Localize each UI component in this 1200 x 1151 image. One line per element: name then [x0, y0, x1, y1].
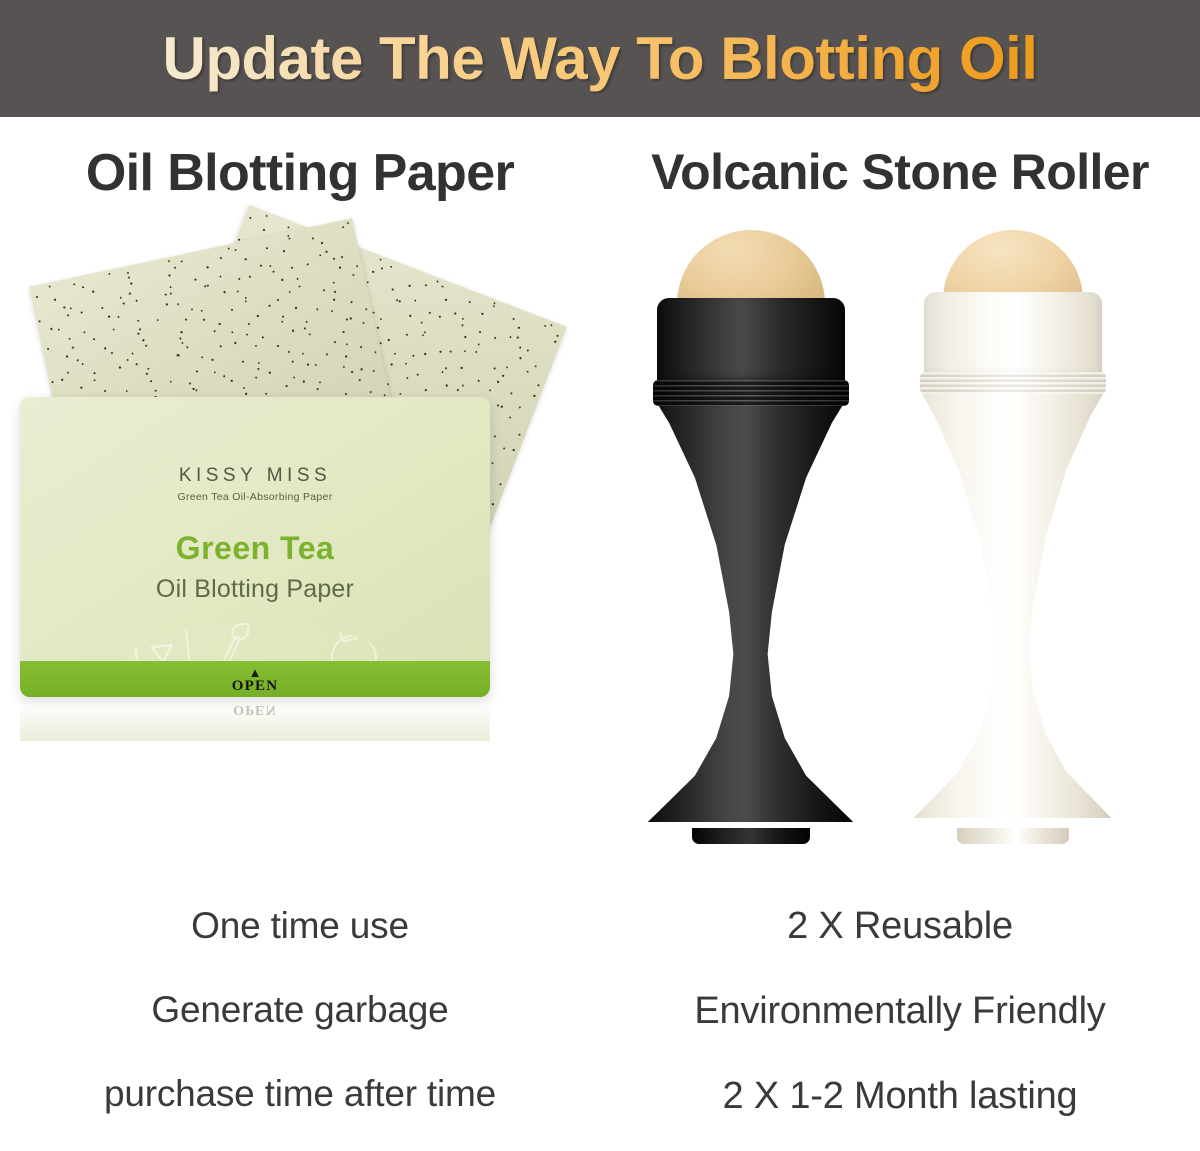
roller-white	[890, 230, 1135, 850]
package-card: KISSY MISS Green Tea Oil-Absorbing Paper…	[20, 397, 490, 697]
roller-black	[628, 230, 873, 850]
left-feature-3: purchase time after time	[0, 1075, 600, 1112]
package-brand-subtitle: Green Tea Oil-Absorbing Paper	[20, 491, 490, 503]
header-banner: Update The Way To Blotting Oil	[0, 0, 1200, 117]
comparison-columns: Oil Blotting Paper OPEN	[0, 117, 1200, 1151]
left-feature-list: One time use Generate garbage purchase t…	[0, 907, 600, 1112]
right-product-image	[600, 222, 1200, 892]
page-title: Update The Way To Blotting Oil	[163, 24, 1038, 93]
package-open-label: OPEN	[175, 678, 335, 695]
package-product-title: Green Tea	[20, 530, 490, 567]
blotting-paper-package: OPEN	[20, 397, 490, 717]
package-brand-name: KISSY MISS	[20, 465, 490, 487]
roller-body-black	[644, 402, 858, 822]
left-feature-1: One time use	[0, 907, 600, 944]
column-volcanic-stone-roller: Volcanic Stone Roller	[600, 117, 1200, 1151]
left-feature-2: Generate garbage	[0, 991, 600, 1028]
right-column-heading: Volcanic Stone Roller	[600, 143, 1200, 201]
roller-ridges-white	[920, 372, 1106, 394]
left-product-image: OPEN	[0, 222, 600, 892]
right-feature-2: Environmentally Friendly	[600, 992, 1200, 1030]
left-column-heading: Oil Blotting Paper	[0, 143, 600, 203]
roller-base-white	[957, 828, 1069, 844]
infographic-page: Update The Way To Blotting Oil Oil Blott…	[0, 0, 1200, 1151]
roller-ridges-black	[653, 380, 849, 406]
roller-body-white	[910, 394, 1116, 818]
roller-collar-black	[657, 298, 845, 386]
roller-base-black	[692, 828, 810, 844]
roller-collar-white	[924, 292, 1102, 378]
package-text-block: KISSY MISS Green Tea Oil-Absorbing Paper…	[20, 465, 490, 604]
package-product-subtitle: Oil Blotting Paper	[20, 575, 490, 604]
right-feature-1: 2 X Reusable	[600, 907, 1200, 945]
package-open-tab: ▲ OPEN	[175, 668, 335, 695]
right-feature-3: 2 X 1-2 Month lasting	[600, 1077, 1200, 1115]
right-feature-list: 2 X Reusable Environmentally Friendly 2 …	[600, 907, 1200, 1115]
column-oil-blotting-paper: Oil Blotting Paper OPEN	[0, 117, 600, 1151]
open-arrow-icon: ▲	[175, 668, 335, 678]
package-reflection-label: OPEN	[233, 701, 277, 717]
